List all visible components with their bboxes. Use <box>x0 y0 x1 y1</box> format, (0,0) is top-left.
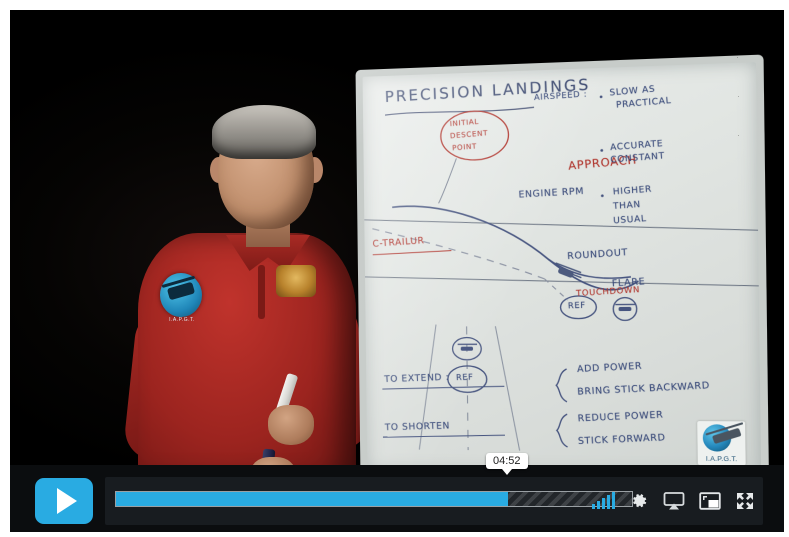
controls-bar: 04:52 <box>105 477 763 525</box>
instructor-hand-upper <box>268 405 314 445</box>
whiteboard-logo-label: I.A.P.G.T. <box>698 456 746 464</box>
letterbox-top-bar <box>10 10 789 48</box>
progress-bar[interactable] <box>115 491 633 507</box>
airplay-icon[interactable] <box>663 491 685 511</box>
video-frame: I.A.P.G.T. PRECISION LANDINGS <box>10 10 789 537</box>
fullscreen-expand-icon[interactable] <box>735 491 755 511</box>
approach-profile-diagram <box>363 62 762 476</box>
shirt-logo-icon <box>160 273 202 317</box>
progress-fill <box>116 492 508 506</box>
note-engine-rpm-value-2: THAN <box>613 200 641 212</box>
picture-in-picture-icon[interactable] <box>699 492 721 510</box>
video-stage[interactable]: I.A.P.G.T. PRECISION LANDINGS <box>10 10 789 537</box>
controls-icon-group <box>592 487 755 515</box>
note-to-shorten-label: TO SHORTEN <box>385 421 451 433</box>
shirt-placket <box>258 265 265 319</box>
shirt-logo-label: I.A.P.G.T. <box>154 317 210 323</box>
gear-icon[interactable] <box>629 491 649 511</box>
note-to-extend-label: TO EXTEND : <box>384 373 450 385</box>
whiteboard: PRECISION LANDINGS <box>356 55 769 484</box>
time-tooltip: 04:52 <box>486 453 528 469</box>
shirt-gold-emblem-icon <box>276 265 316 297</box>
note-ref-circle-runway: REF <box>456 372 474 382</box>
player-controls: Play 04:52 <box>10 465 789 537</box>
instructor-hair <box>212 105 316 159</box>
video-player: I.A.P.G.T. PRECISION LANDINGS <box>0 0 789 537</box>
play-button[interactable]: Play <box>35 478 93 524</box>
instructor-torso <box>138 233 356 481</box>
whiteboard-surface: PRECISION LANDINGS <box>363 62 762 476</box>
play-triangle-icon <box>57 488 77 514</box>
whiteboard-logo: I.A.P.G.T. <box>697 421 745 465</box>
volume-bars-icon[interactable] <box>592 493 615 509</box>
note-ref-circle: REF <box>568 300 586 310</box>
